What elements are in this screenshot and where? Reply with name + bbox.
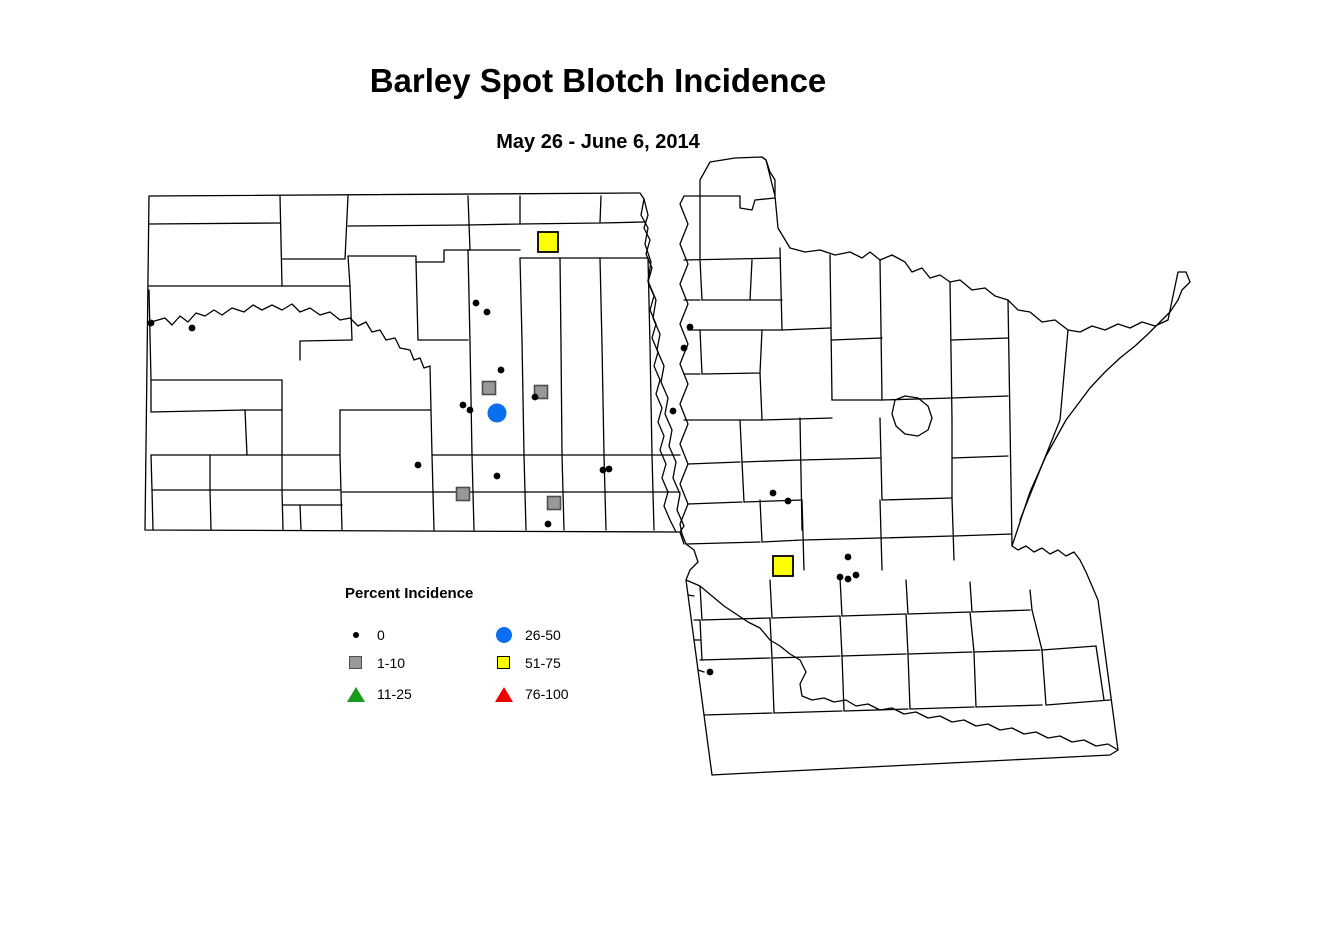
legend-title: Percent Incidence [345, 585, 473, 602]
map-point-zero [845, 576, 852, 583]
legend-symbol-blue-circle [493, 625, 517, 645]
map-point-zero [770, 490, 777, 497]
legend-symbol-green-triangle [345, 684, 369, 704]
map-point-26-50 [488, 404, 507, 423]
map-point-zero [853, 572, 860, 579]
map-point-zero [600, 467, 607, 474]
mille-lacs-lake [892, 396, 932, 436]
map-point-51-75 [773, 556, 793, 576]
legend: Percent Incidence 01-1011-2526-5051-7576… [345, 585, 585, 710]
map-point-zero [189, 325, 196, 332]
map-point-zero [606, 466, 613, 473]
map-point-zero [484, 309, 491, 316]
legend-symbol-red-triangle [493, 684, 517, 704]
legend-label: 76-100 [525, 686, 569, 702]
legend-symbol-gray-square [345, 653, 369, 673]
legend-label: 1-10 [377, 655, 405, 671]
legend-symbol-small-black-dot [345, 625, 369, 645]
legend-label: 11-25 [377, 686, 412, 702]
map-point-51-75 [538, 232, 558, 252]
mississippi-river [686, 580, 1118, 750]
red-river [644, 199, 676, 532]
map-point-zero [415, 462, 422, 469]
map-point-zero [681, 345, 688, 352]
map-point-1-10 [548, 497, 561, 510]
minnesota-outline [680, 157, 1190, 775]
map-page: Barley Spot Blotch Incidence May 26 - Ju… [0, 0, 1341, 926]
legend-label: 51-75 [525, 655, 561, 671]
map-point-zero [532, 394, 539, 401]
map-point-zero [473, 300, 480, 307]
map-point-zero [148, 320, 155, 327]
map-point-zero [707, 669, 714, 676]
map-point-zero [845, 554, 852, 561]
gray-square-icon [349, 656, 362, 669]
map-point-1-10 [483, 382, 496, 395]
map-point-1-10 [457, 488, 470, 501]
yellow-square-icon [497, 656, 510, 669]
map-point-zero [494, 473, 501, 480]
map-point-zero [785, 498, 792, 505]
north-dakota-outline [145, 193, 684, 532]
legend-label: 0 [377, 627, 385, 643]
green-triangle-icon [347, 687, 365, 702]
missouri-river-lake [151, 304, 430, 368]
map-point-zero [545, 521, 552, 528]
map-point-zero [670, 408, 677, 415]
red-triangle-icon [495, 687, 513, 702]
incidence-map [0, 0, 1341, 926]
map-boundaries [145, 157, 1190, 775]
legend-symbol-yellow-square [493, 653, 517, 673]
small-black-dot-icon [353, 632, 359, 638]
map-point-zero [460, 402, 467, 409]
map-point-zero [687, 324, 694, 331]
legend-label: 26-50 [525, 627, 561, 643]
map-point-zero [837, 574, 844, 581]
map-point-zero [498, 367, 505, 374]
blue-circle-icon [496, 627, 512, 643]
map-point-zero [467, 407, 474, 414]
